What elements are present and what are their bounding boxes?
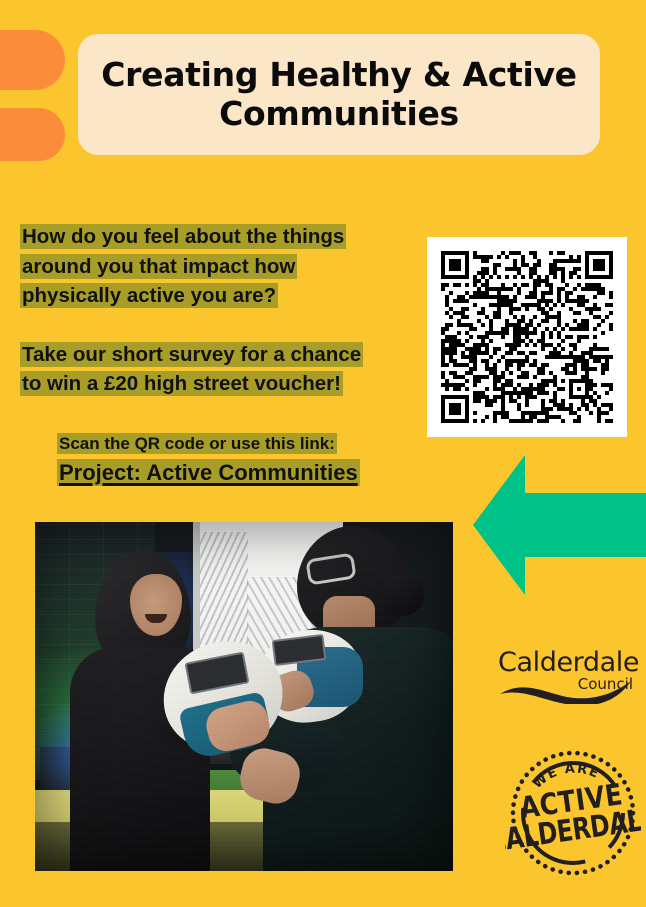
page-title: Creating Healthy & Active Communities [96, 56, 582, 133]
question-line-3: physically active you are? [20, 281, 420, 311]
arrow-left-icon [460, 440, 646, 610]
cta-block: Scan the QR code or use this link: Proje… [57, 432, 402, 487]
question-line-2-text: around you that impact how [20, 254, 297, 279]
council-wave-icon [498, 674, 633, 704]
title-card: Creating Healthy & Active Communities [78, 34, 600, 155]
decorative-orange-pill-top [0, 30, 65, 90]
qr-code-icon[interactable] [441, 251, 613, 423]
cta-instruction: Scan the QR code or use this link: [57, 432, 402, 456]
question-line-1-text: How do you feel about the things [20, 224, 346, 249]
offer-line-2: to win a £20 high street voucher! [20, 369, 420, 399]
survey-link-text[interactable]: Project: Active Communities [57, 459, 360, 486]
decorative-orange-pill-bottom [0, 108, 65, 161]
survey-link[interactable]: Project: Active Communities [57, 459, 402, 487]
body-copy: How do you feel about the things around … [20, 222, 420, 399]
badge-wordmark: ACTIVE CALDERDALE [505, 774, 641, 859]
offer-line-2-text: to win a £20 high street voucher! [20, 371, 343, 396]
offer-line-1-text: Take our short survey for a chance [20, 342, 363, 367]
calderdale-council-logo: Calderdale Council [498, 648, 633, 706]
qr-code-panel[interactable] [427, 237, 627, 437]
question-line-2: around you that impact how [20, 252, 420, 282]
copy-spacer [20, 311, 420, 340]
cta-instruction-text: Scan the QR code or use this link: [57, 433, 337, 454]
active-calderdale-badge: WE ARE ACTIVE CALDERDALE [505, 745, 641, 881]
photo-boxing-session [35, 522, 453, 871]
poster-canvas: Creating Healthy & Active Communities Ho… [0, 0, 646, 907]
question-line-1: How do you feel about the things [20, 222, 420, 252]
offer-line-1: Take our short survey for a chance [20, 340, 420, 370]
arrow-shape [473, 455, 646, 595]
question-line-3-text: physically active you are? [20, 283, 278, 308]
